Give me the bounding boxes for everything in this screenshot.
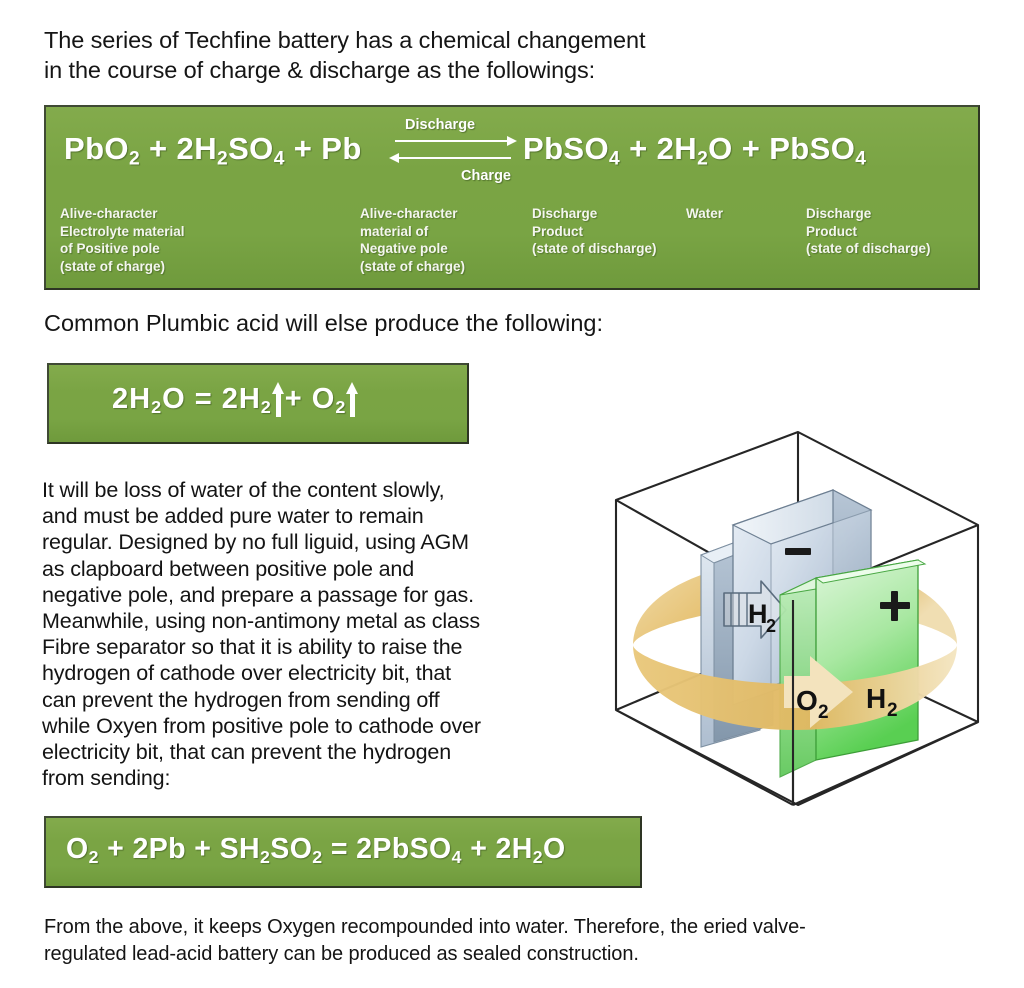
reverse-arrow-line bbox=[395, 157, 511, 159]
water-product-hydrogen: 2H2 bbox=[222, 383, 272, 415]
gas-up-arrow-icon-2 bbox=[346, 386, 359, 416]
reversible-reaction-arrow: Discharge Charge bbox=[389, 114, 517, 186]
water-product-oxygen: O2 bbox=[312, 383, 347, 415]
annotation-discharge-product: Discharge Product (state of discharge) bbox=[532, 205, 657, 258]
body-line-11: electricity bit, that can prevent the hy… bbox=[42, 739, 582, 765]
battery-cell-diagram: H 2 O bbox=[588, 420, 998, 820]
recombination-equation: O2 + 2Pb + SH2SO2 = 2PbSO4 + 2H2O bbox=[66, 833, 566, 868]
body-line-10: while Oxyen from positive pole to cathod… bbox=[42, 713, 582, 739]
body-paragraph: It will be loss of water of the content … bbox=[42, 477, 582, 791]
body-line-8: hydrogen of cathode over electricity bit… bbox=[42, 660, 582, 686]
intro-line-1: The series of Techfine battery has a che… bbox=[44, 25, 844, 55]
oxygen-flow-label-subscript: 2 bbox=[818, 702, 829, 723]
water-plus-sign: + bbox=[285, 383, 303, 415]
forward-arrow-line bbox=[395, 140, 511, 142]
hydrogen-plate-label: H bbox=[748, 599, 768, 629]
recombination-panel: O2 + 2Pb + SH2SO2 = 2PbSO4 + 2H2O bbox=[44, 816, 642, 888]
gas-up-arrow-icon bbox=[272, 386, 285, 416]
body-line-12: from sending: bbox=[42, 765, 582, 791]
body-line-3: regular. Designed by no full liguid, usi… bbox=[42, 529, 582, 555]
intro-paragraph: The series of Techfine battery has a che… bbox=[44, 25, 844, 85]
discharge-arrow-label: Discharge bbox=[405, 117, 475, 133]
hydrogen-plate-label-subscript: 2 bbox=[766, 616, 776, 636]
water-split-equation: 2H2O = 2H2+ O2 bbox=[112, 383, 359, 418]
water-split-panel: 2H2O = 2H2+ O2 bbox=[47, 363, 469, 444]
closing-line-1: From the above, it keeps Oxygen recompou… bbox=[44, 914, 1004, 941]
body-line-1: It will be loss of water of the content … bbox=[42, 477, 582, 503]
charge-arrow-label: Charge bbox=[461, 168, 511, 184]
water-reactant: 2H2O bbox=[112, 383, 186, 415]
reverse-arrow-head-icon bbox=[389, 153, 399, 163]
annotation-negative-pole: Alive-character material of Negative pol… bbox=[360, 205, 465, 275]
body-line-5: negative pole, and prepare a passage for… bbox=[42, 582, 582, 608]
water-equals-sign: = bbox=[195, 383, 213, 415]
hydrogen-flow-label: H bbox=[866, 683, 886, 714]
closing-paragraph: From the above, it keeps Oxygen recompou… bbox=[44, 914, 1004, 968]
main-equation-reactants: PbO2 + 2H2SO4 + Pb bbox=[64, 131, 362, 170]
negative-pole-symbol bbox=[785, 548, 811, 555]
intro-line-2: in the course of charge & discharge as t… bbox=[44, 55, 844, 85]
body-line-7: Fibre separator so that it is ability to… bbox=[42, 634, 582, 660]
forward-arrow-head-icon bbox=[507, 136, 517, 146]
body-line-4: as clapboard between positive pole and bbox=[42, 556, 582, 582]
oxygen-flow-label: O bbox=[796, 685, 818, 716]
hydrogen-flow-label-subscript: 2 bbox=[887, 700, 898, 721]
annotation-water: Water bbox=[686, 205, 723, 223]
page-root: The series of Techfine battery has a che… bbox=[0, 0, 1024, 988]
body-line-2: and must be added pure water to remain bbox=[42, 503, 582, 529]
main-equation-products: PbSO4 + 2H2O + PbSO4 bbox=[523, 131, 866, 170]
annotation-discharge-product-2: Discharge Product (state of discharge) bbox=[806, 205, 931, 258]
closing-line-2: regulated lead-acid battery can be produ… bbox=[44, 941, 1004, 968]
main-reaction-panel: PbO2 + 2H2SO4 + Pb Discharge Charge PbSO… bbox=[44, 105, 980, 290]
annotation-positive-pole: Alive-character Electrolyte material of … bbox=[60, 205, 185, 275]
plumbic-acid-heading: Common Plumbic acid will else produce th… bbox=[44, 310, 603, 337]
positive-plate bbox=[780, 560, 925, 777]
body-line-9: can prevent the hydrogen from sending of… bbox=[42, 687, 582, 713]
body-line-6: Meanwhile, using non-antimony metal as c… bbox=[42, 608, 582, 634]
